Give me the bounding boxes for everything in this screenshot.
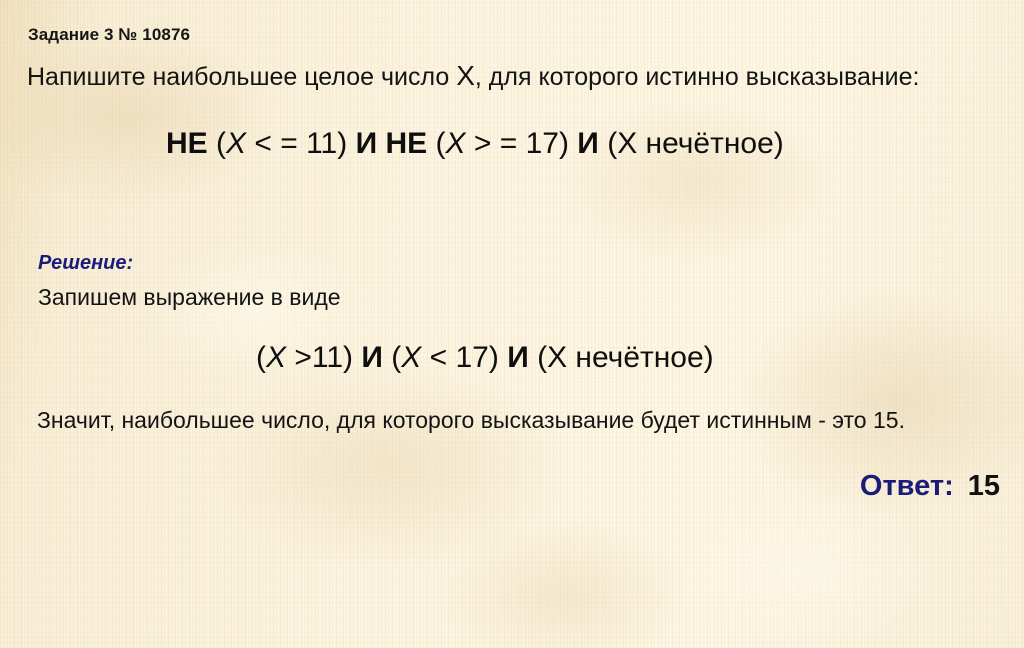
group1-relation: < = 11 [246,127,337,160]
solution-label: Решение: [38,252,133,275]
logical-statement: НЕ (X < = 11) И НЕ (X > = 17) И (X нечёт… [166,127,784,161]
rewritten-statement: (X >11) И (X < 17) И (X нечётное) [256,341,714,375]
task-prompt-variable: X [456,60,475,91]
group1-close-paren: ) [337,127,347,160]
rewritten-group2-open-paren: ( [391,341,401,374]
rewritten-operator-and-2: И [507,341,529,374]
rewritten-group1-open-paren: ( [256,341,266,374]
group2-close-paren: ) [559,127,569,160]
rewritten-group1-relation: >11 [286,341,343,374]
task-prompt: Напишите наибольшее целое число X, для к… [27,60,920,92]
group2-open-paren: ( [436,127,446,160]
answer-value: 15 [968,470,1000,502]
operator-not-1: НЕ [166,127,208,160]
task-header: Задание 3 № 10876 [28,25,190,45]
solution-intro: Запишем выражение в виде [38,284,341,311]
operator-and-2: И [577,127,599,160]
answer-row: Ответ:15 [860,470,1000,503]
rewritten-group2-close-paren: ) [489,341,499,374]
rewritten-group2-variable: X [401,341,421,374]
rewritten-group1-variable: X [266,341,286,374]
operator-not-2: НЕ [385,127,427,160]
rewritten-group1-close-paren: ) [343,341,353,374]
group3-parity: (X нечётное) [607,127,784,160]
rewritten-operator-and-1: И [361,341,383,374]
operator-and-1: И [356,127,378,160]
group1-variable: X [226,127,246,160]
task-prompt-before: Напишите наибольшее целое число [27,63,456,91]
group1-open-paren: ( [216,127,226,160]
group2-relation: > = 17 [466,127,559,160]
slide-canvas: Задание 3 № 10876 Напишите наибольшее це… [0,0,1024,648]
rewritten-group3-parity: (X нечётное) [537,341,714,374]
task-prompt-after: , для которого истинно высказывание: [475,63,920,91]
group2-variable: X [446,127,466,160]
answer-label: Ответ: [860,470,954,502]
rewritten-group2-relation: < 17 [421,341,489,374]
solution-conclusion: Значит, наибольшее число, для которого в… [37,404,997,437]
